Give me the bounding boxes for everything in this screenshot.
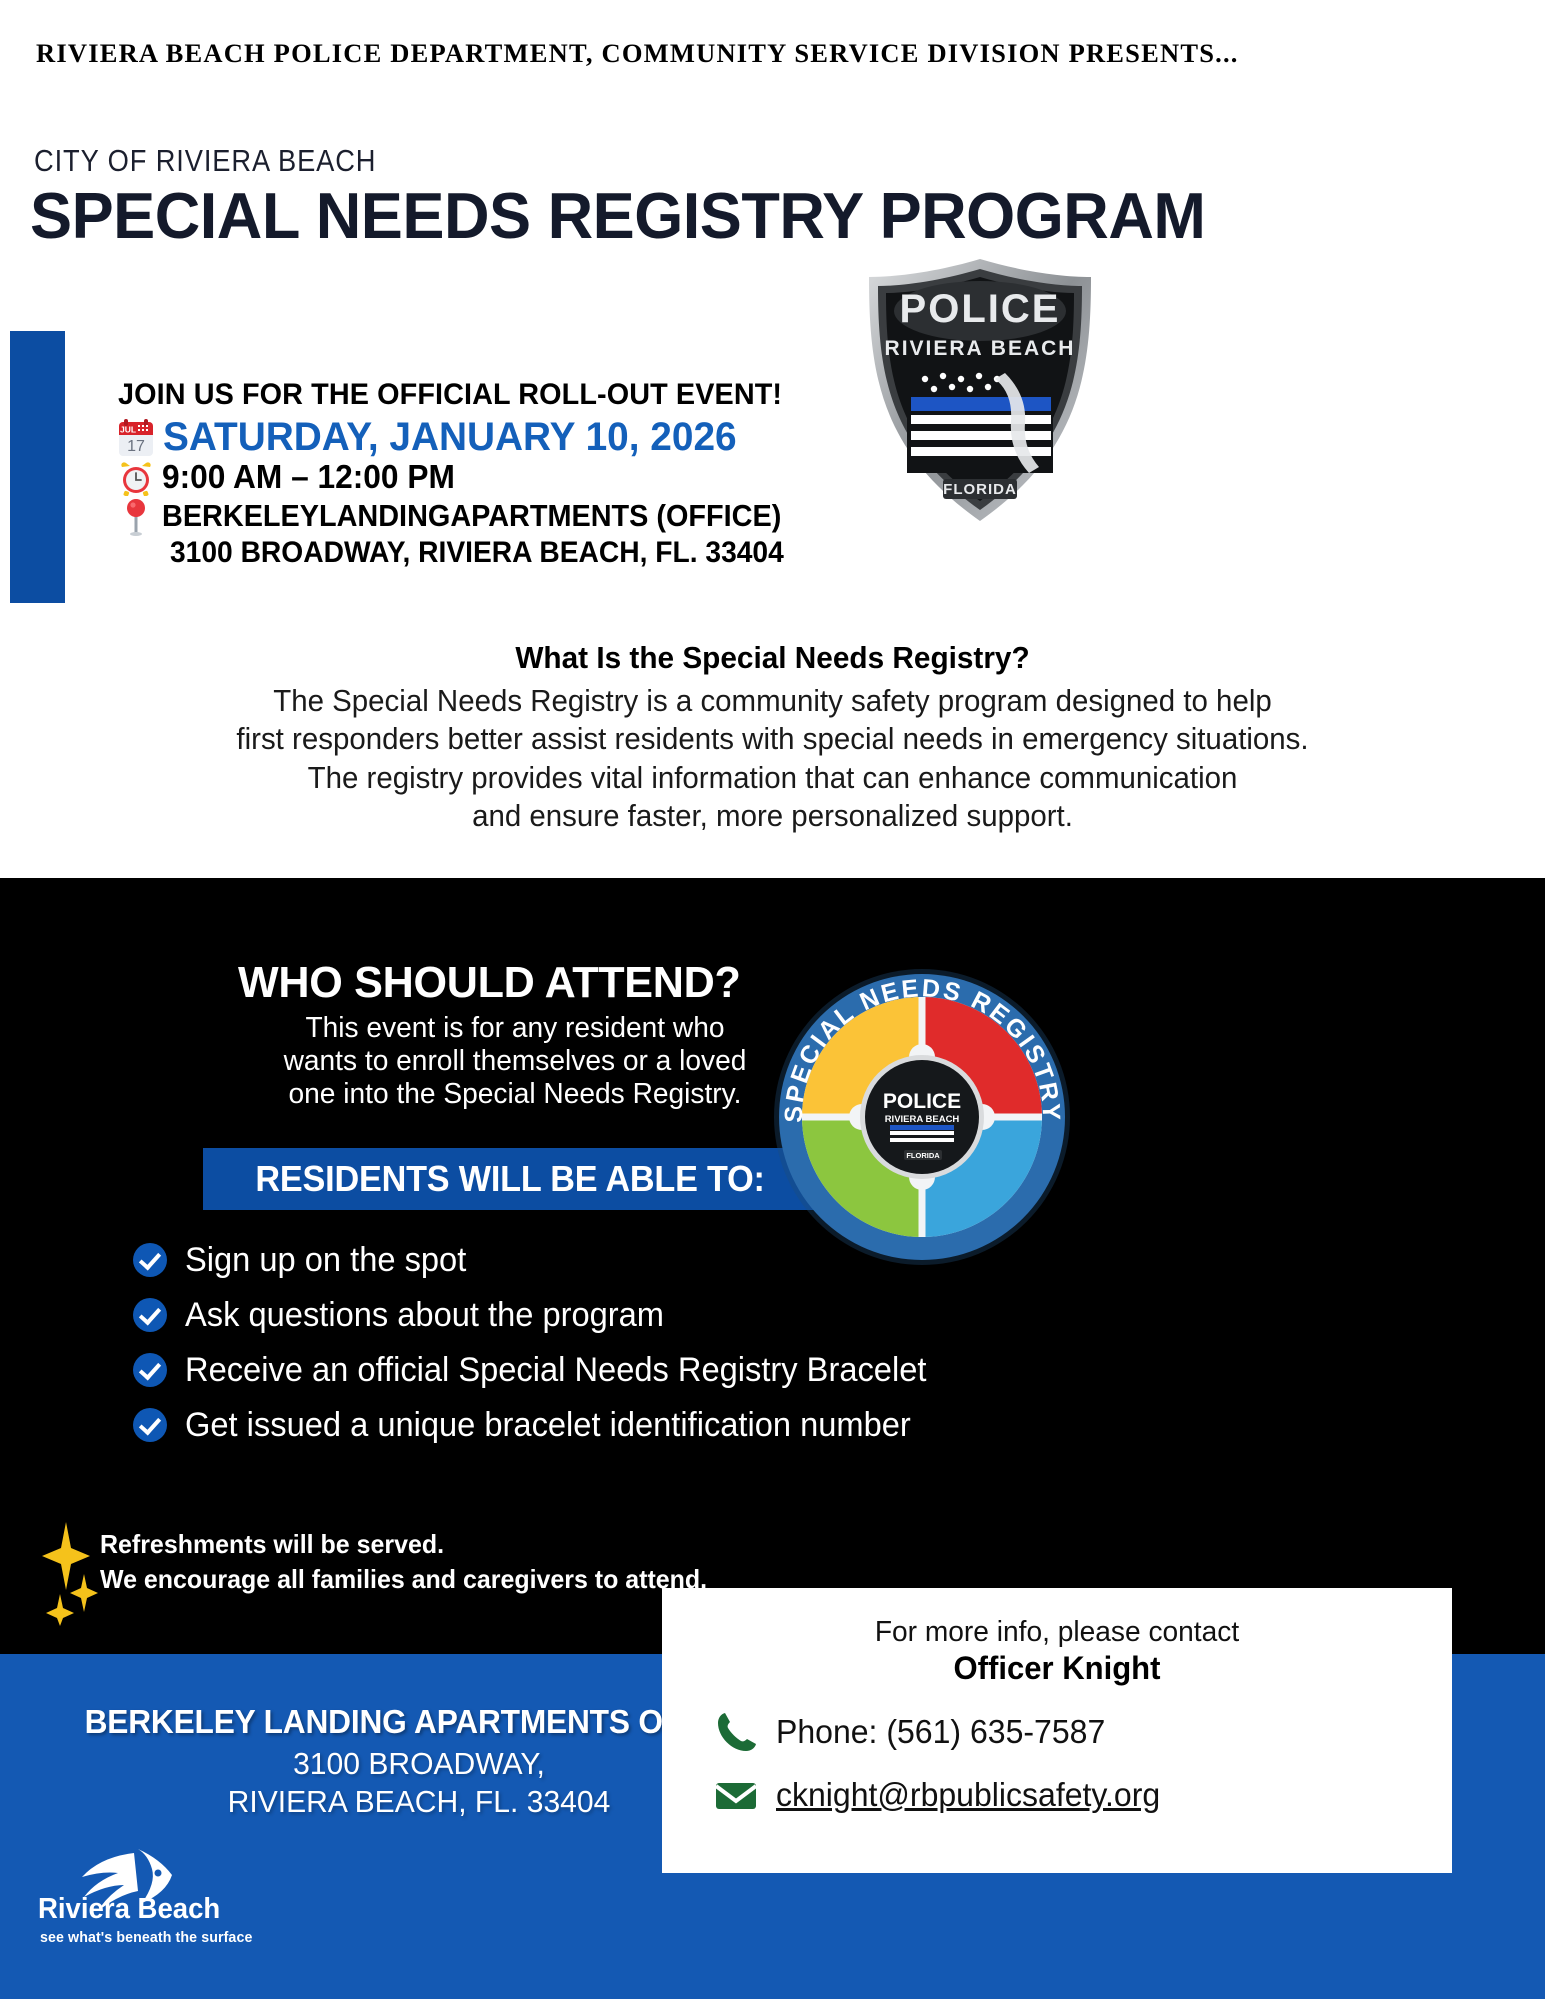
contact-phone-row[interactable]: Phone: (561) 635-7587 <box>712 1708 1115 1756</box>
svg-text:RIVIERA BEACH: RIVIERA BEACH <box>885 1114 960 1125</box>
refreshments-note: Refreshments will be served. We encourag… <box>100 1527 732 1596</box>
check-icon <box>133 1408 167 1442</box>
envelope-icon <box>712 1771 760 1819</box>
calendar-icon: JUL 17 <box>118 419 154 457</box>
list-item: Receive an official Special Needs Regist… <box>133 1353 957 1387</box>
about-heading: What Is the Special Needs Registry? <box>31 640 1514 676</box>
attend-body-line-2: wants to enroll themselves or a loved <box>234 1045 797 1078</box>
svg-text:FLORIDA: FLORIDA <box>906 1151 940 1160</box>
eyebrow-city: CITY OF RIVIERA BEACH <box>34 143 376 179</box>
attend-heading: WHO SHOULD ATTEND? <box>238 958 741 1008</box>
refreshments-line-1: Refreshments will be served. <box>100 1527 707 1562</box>
svg-text:JUL: JUL <box>120 424 136 434</box>
alarm-clock-icon <box>118 460 154 496</box>
about-line-2: first responders better assist residents… <box>39 720 1507 758</box>
event-venue-row: BERKELEYLANDINGAPARTMENTS (OFFICE) <box>118 496 828 536</box>
event-venue: BERKELEYLANDINGAPARTMENTS (OFFICE) <box>162 499 781 534</box>
list-item-label: Get issued a unique bracelet identificat… <box>185 1408 911 1442</box>
residents-banner-label: RESIDENTS WILL BE ABLE TO: <box>256 1158 765 1200</box>
benefits-checklist: Sign up on the spot Ask questions about … <box>133 1243 957 1463</box>
residents-banner: RESIDENTS WILL BE ABLE TO: <box>203 1148 818 1210</box>
event-date: SATURDAY, JANUARY 10, 2026 <box>163 416 737 459</box>
about-line-1: The Special Needs Registry is a communit… <box>39 682 1507 720</box>
event-details: JOIN US FOR THE OFFICIAL ROLL-OUT EVENT!… <box>118 378 828 571</box>
event-join-label: JOIN US FOR THE OFFICIAL ROLL-OUT EVENT! <box>118 378 800 412</box>
about-line-4: and ensure faster, more personalized sup… <box>39 797 1507 835</box>
list-item-label: Ask questions about the program <box>185 1298 664 1332</box>
check-icon <box>133 1298 167 1332</box>
event-date-row: JUL 17 SATURDAY, JANUARY 10, 2026 <box>118 416 828 459</box>
svg-text:17: 17 <box>127 438 145 455</box>
about-body: The Special Needs Registry is a communit… <box>39 682 1507 836</box>
attend-body: This event is for any resident who wants… <box>234 1012 797 1111</box>
list-item-label: Receive an official Special Needs Regist… <box>185 1353 926 1387</box>
check-icon <box>133 1353 167 1387</box>
riviera-beach-wordmark: Riviera Beach <box>38 1893 220 1926</box>
presents-banner: RIVIERA BEACH POLICE DEPARTMENT, COMMUNI… <box>36 38 1239 69</box>
svg-text:POLICE: POLICE <box>900 287 1061 331</box>
svg-text:FLORIDA: FLORIDA <box>943 481 1017 498</box>
event-time: 9:00 AM – 12:00 PM <box>162 459 455 496</box>
police-badge-icon: POLICE RIVIERA BEACH FLORIDA <box>855 255 1105 525</box>
event-address: 3100 BROADWAY, RIVIERA BEACH, FL. 33404 <box>170 536 788 571</box>
svg-text:RIVIERA BEACH: RIVIERA BEACH <box>885 337 1076 360</box>
contact-name: Officer Knight <box>674 1650 1440 1687</box>
contact-intro: For more info, please contact <box>674 1616 1440 1649</box>
check-icon <box>133 1243 167 1277</box>
attend-body-line-1: This event is for any resident who <box>234 1012 797 1045</box>
event-time-row: 9:00 AM – 12:00 PM <box>118 459 828 496</box>
contact-phone: Phone: (561) 635-7587 <box>776 1713 1105 1751</box>
special-needs-registry-badge-icon: POLICE RIVIERA BEACH FLORIDA SPECIAL NEE… <box>770 965 1075 1270</box>
attend-body-line-3: one into the Special Needs Registry. <box>234 1078 797 1111</box>
riviera-beach-tagline: see what's beneath the surface <box>40 1930 252 1946</box>
about-line-3: The registry provides vital information … <box>39 759 1507 797</box>
contact-email[interactable]: cknight@rbpublicsafety.org <box>776 1776 1160 1814</box>
map-pin-icon <box>118 496 154 536</box>
list-item: Get issued a unique bracelet identificat… <box>133 1408 957 1442</box>
blue-accent-bar <box>10 331 65 603</box>
refreshments-line-2: We encourage all families and caregivers… <box>100 1562 707 1597</box>
phone-icon <box>712 1708 760 1756</box>
svg-text:POLICE: POLICE <box>883 1090 961 1113</box>
list-item: Ask questions about the program <box>133 1298 957 1332</box>
contact-email-row[interactable]: cknight@rbpublicsafety.org <box>712 1771 1172 1819</box>
flyer-page: RIVIERA BEACH POLICE DEPARTMENT, COMMUNI… <box>0 0 1545 1999</box>
list-item-label: Sign up on the spot <box>185 1243 466 1277</box>
sparkles-icon <box>40 1516 102 1626</box>
page-title: SPECIAL NEEDS REGISTRY PROGRAM <box>30 178 1205 253</box>
contact-card: For more info, please contact Officer Kn… <box>662 1588 1452 1873</box>
